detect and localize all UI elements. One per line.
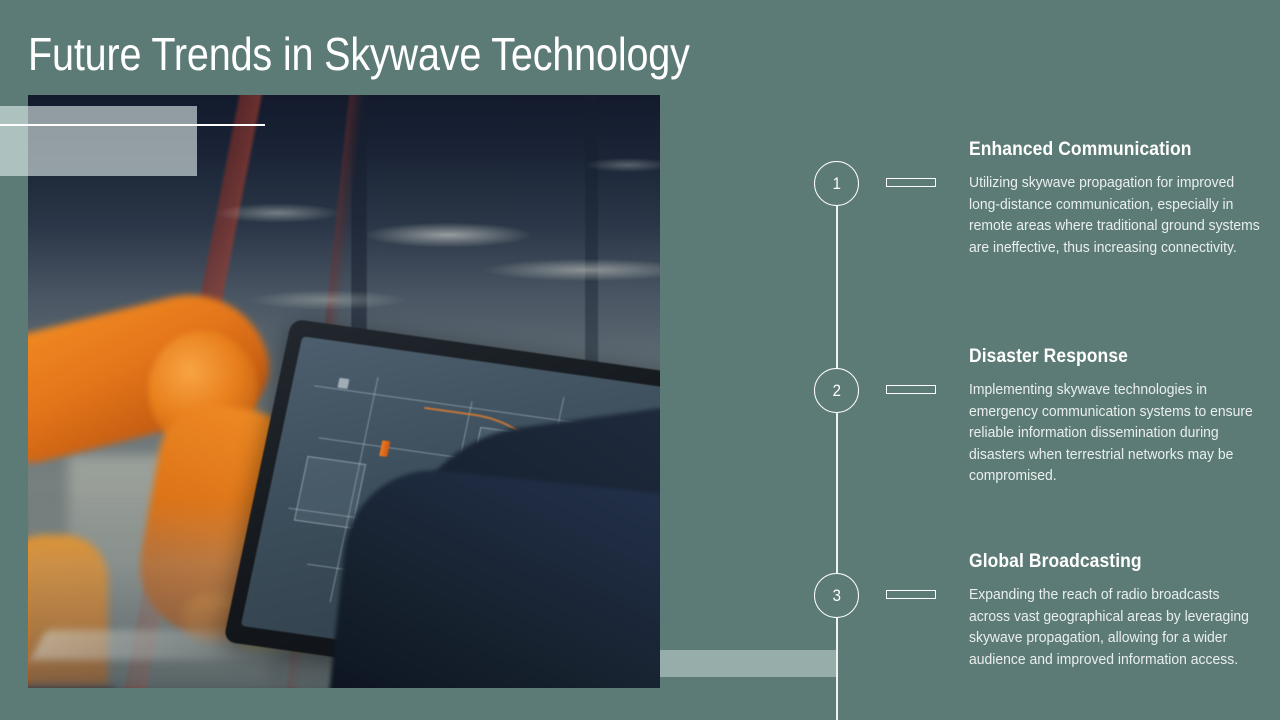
timeline-marker-3[interactable]: 3 [814,573,859,618]
timeline: 1 Enhanced Communication Utilizing skywa… [700,0,1280,720]
timeline-body: Expanding the reach of radio broadcasts … [969,584,1260,670]
timeline-marker-2[interactable]: 2 [814,368,859,413]
page-title: Future Trends in Skywave Technology [28,26,690,82]
timeline-marker-number: 2 [832,382,840,399]
slide-root: Future Trends in Skywave Technology [0,0,1280,720]
timeline-text-1: Enhanced Communication Utilizing skywave… [969,137,1261,258]
timeline-spine [836,183,838,720]
timeline-marker-1[interactable]: 1 [814,161,859,206]
decorative-box-top-left [0,106,197,176]
timeline-connector-1 [886,178,936,187]
timeline-connector-3 [886,590,936,599]
timeline-text-2: Disaster Response Implementing skywave t… [969,344,1261,487]
timeline-connector-2 [886,385,936,394]
timeline-heading: Disaster Response [969,344,1238,370]
timeline-text-3: Global Broadcasting Expanding the reach … [969,549,1261,670]
timeline-body: Implementing skywave technologies in eme… [969,379,1260,487]
timeline-heading: Enhanced Communication [969,137,1238,163]
schematic-highlight [380,440,391,457]
hero-image [28,95,660,688]
decorative-line-top-left [0,124,265,126]
timeline-heading: Global Broadcasting [969,549,1238,575]
timeline-marker-number: 1 [832,175,840,192]
person-arm [328,461,660,688]
timeline-body: Utilizing skywave propagation for improv… [969,172,1260,258]
schematic-tag [337,377,349,388]
timeline-marker-number: 3 [832,587,840,604]
